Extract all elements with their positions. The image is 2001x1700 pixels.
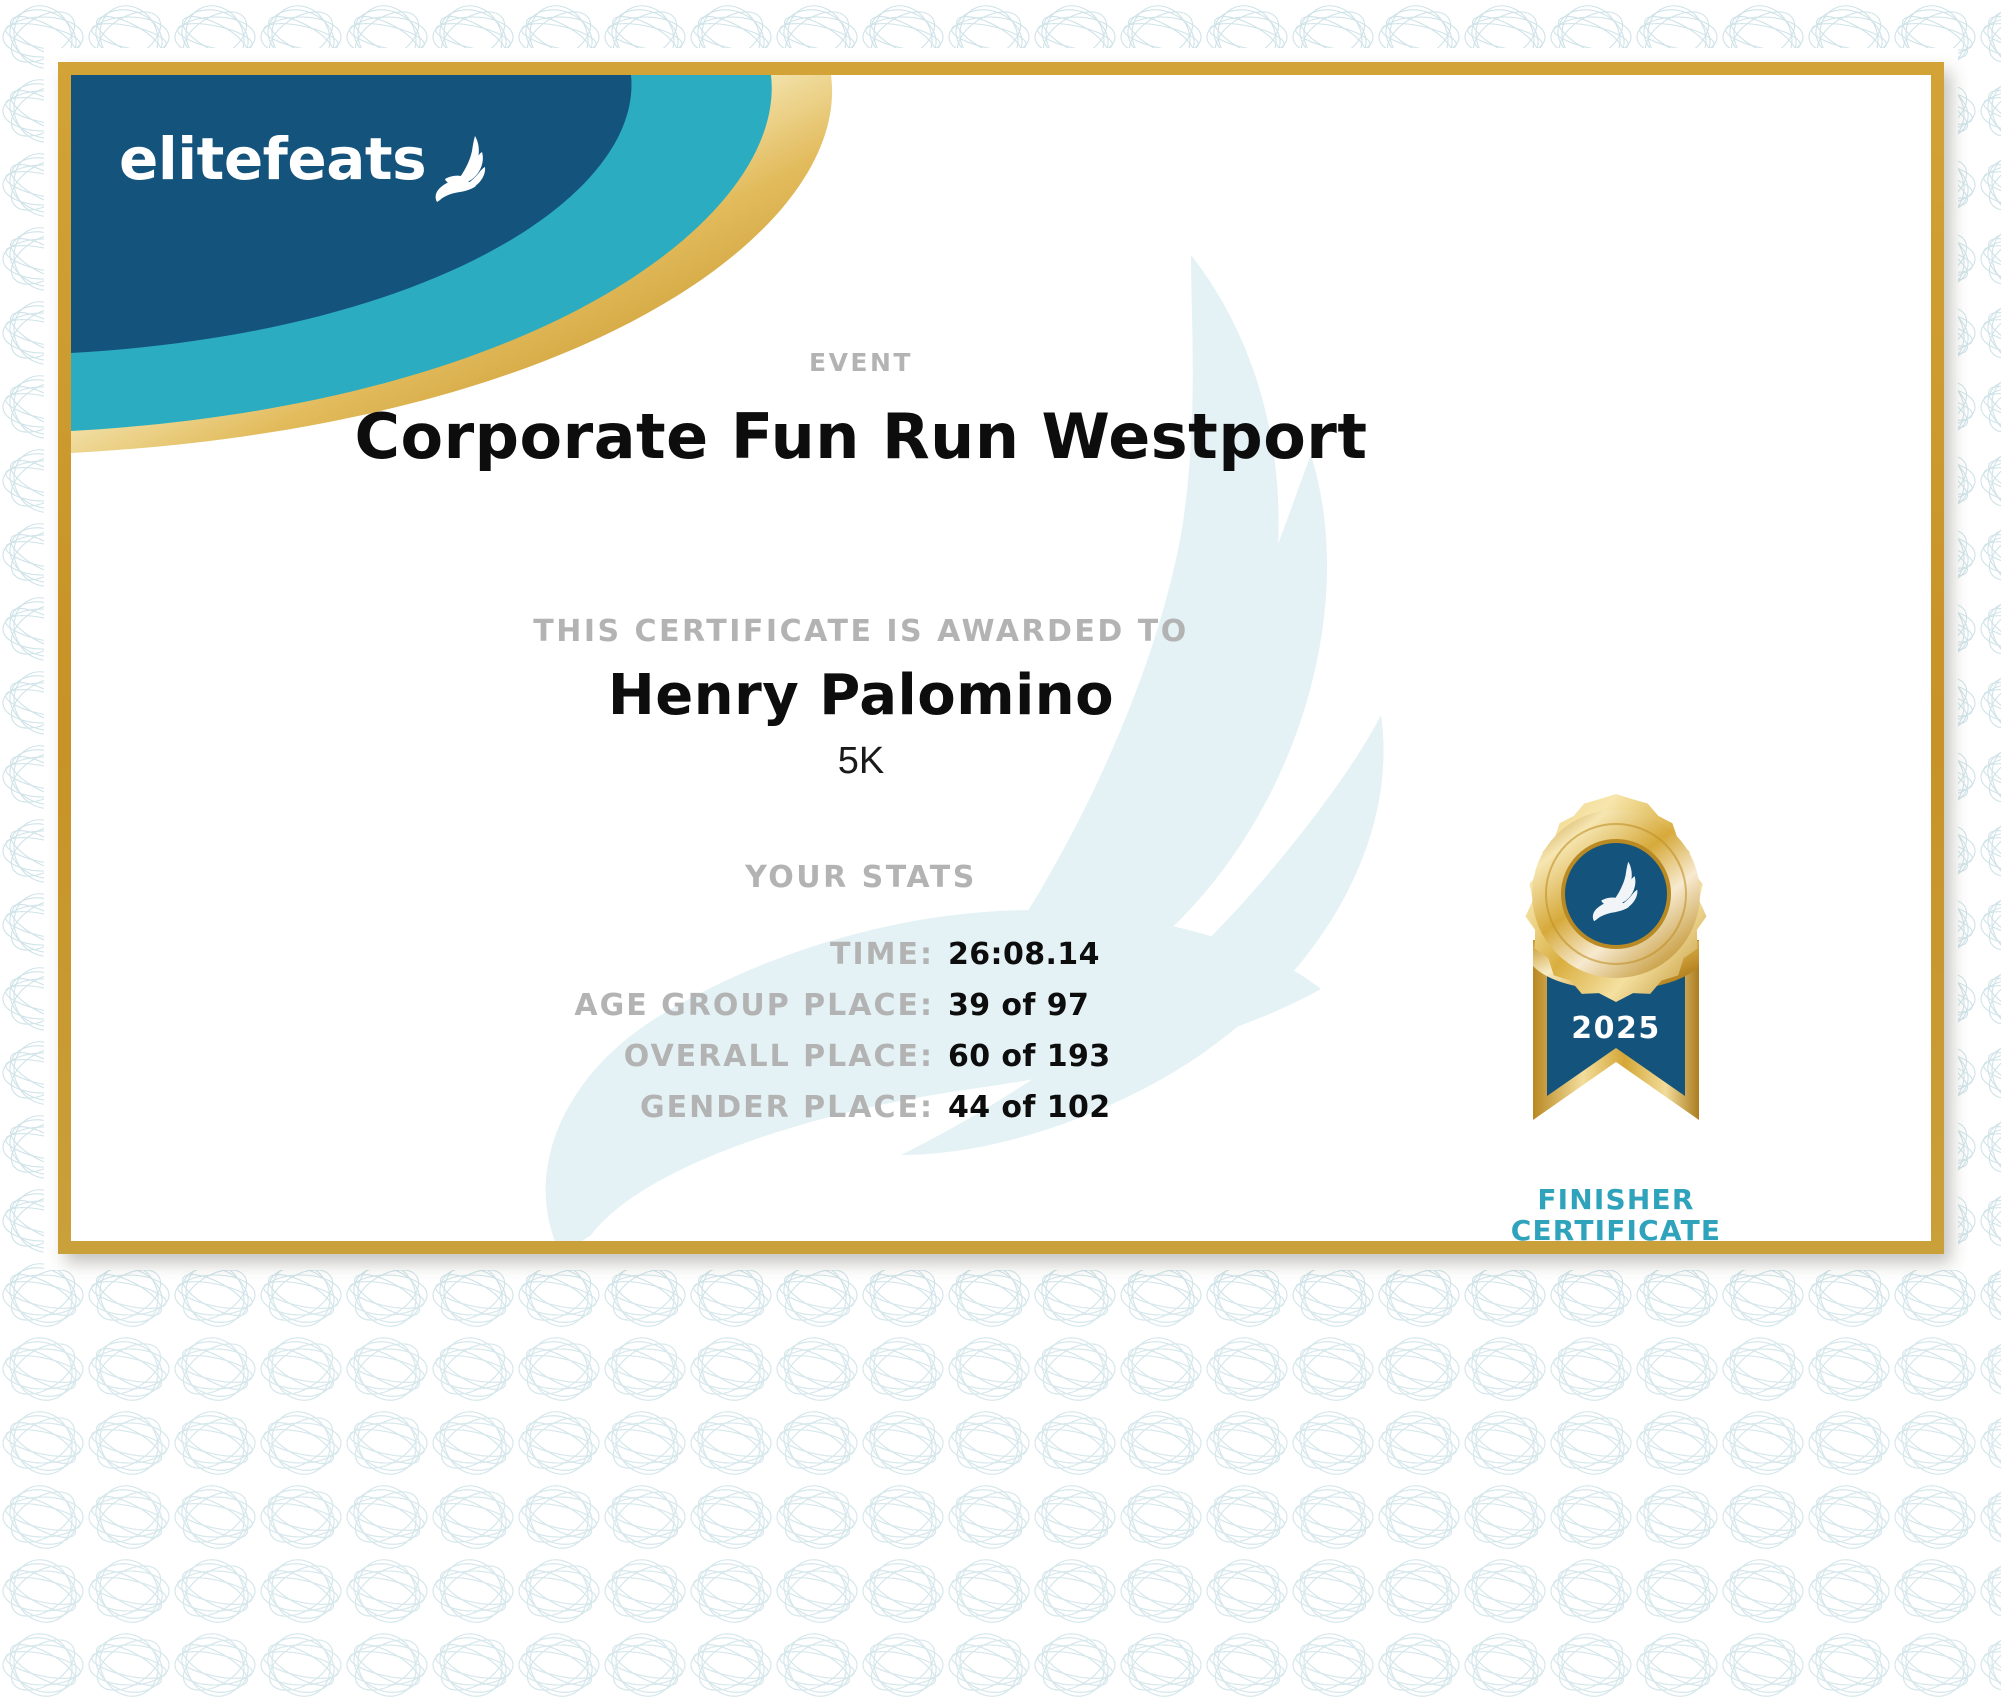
certificate-frame: elitefeats: [58, 62, 1944, 1254]
gold-starburst-medal-icon: 2025: [1471, 790, 1761, 1190]
event-label: EVENT: [71, 348, 1651, 377]
winged-foot-icon: [428, 134, 494, 204]
stat-key: AGE GROUP PLACE:: [454, 988, 934, 1023]
brand-logo: elitefeats: [119, 130, 494, 188]
seal-year: 2025: [1571, 1011, 1661, 1046]
seal-caption: FINISHER CERTIFICATE: [1471, 1184, 1761, 1241]
brand-logo-text: elitefeats: [119, 130, 426, 188]
certificate-body: elitefeats: [71, 75, 1931, 1241]
race-distance: 5K: [71, 740, 1651, 783]
seal-caption-line2: CERTIFICATE: [1471, 1215, 1761, 1241]
event-name: Corporate Fun Run Westport: [71, 400, 1651, 473]
stat-value: 26:08.14: [948, 937, 1268, 972]
stat-value: 44 of 102: [948, 1090, 1268, 1125]
stat-row-age-group-place: AGE GROUP PLACE: 39 of 97: [71, 988, 1651, 1023]
stat-row-overall-place: OVERALL PLACE: 60 of 193: [71, 1039, 1651, 1074]
stat-row-time: TIME: 26:08.14: [71, 937, 1651, 972]
stat-key: TIME:: [454, 937, 934, 972]
stats-list: TIME: 26:08.14 AGE GROUP PLACE: 39 of 97…: [71, 937, 1651, 1141]
recipient-name: Henry Palomino: [71, 663, 1651, 728]
your-stats-label: YOUR STATS: [71, 860, 1651, 895]
certificate-page: elitefeats: [0, 0, 2001, 1700]
stat-value: 60 of 193: [948, 1039, 1268, 1074]
stat-key: GENDER PLACE:: [454, 1090, 934, 1125]
stat-key: OVERALL PLACE:: [454, 1039, 934, 1074]
seal-caption-line1: FINISHER: [1471, 1184, 1761, 1215]
stat-value: 39 of 97: [948, 988, 1268, 1023]
stat-row-gender-place: GENDER PLACE: 44 of 102: [71, 1090, 1651, 1125]
awarded-to-label: THIS CERTIFICATE IS AWARDED TO: [71, 614, 1651, 649]
finisher-seal: 2025: [1471, 790, 1761, 1241]
